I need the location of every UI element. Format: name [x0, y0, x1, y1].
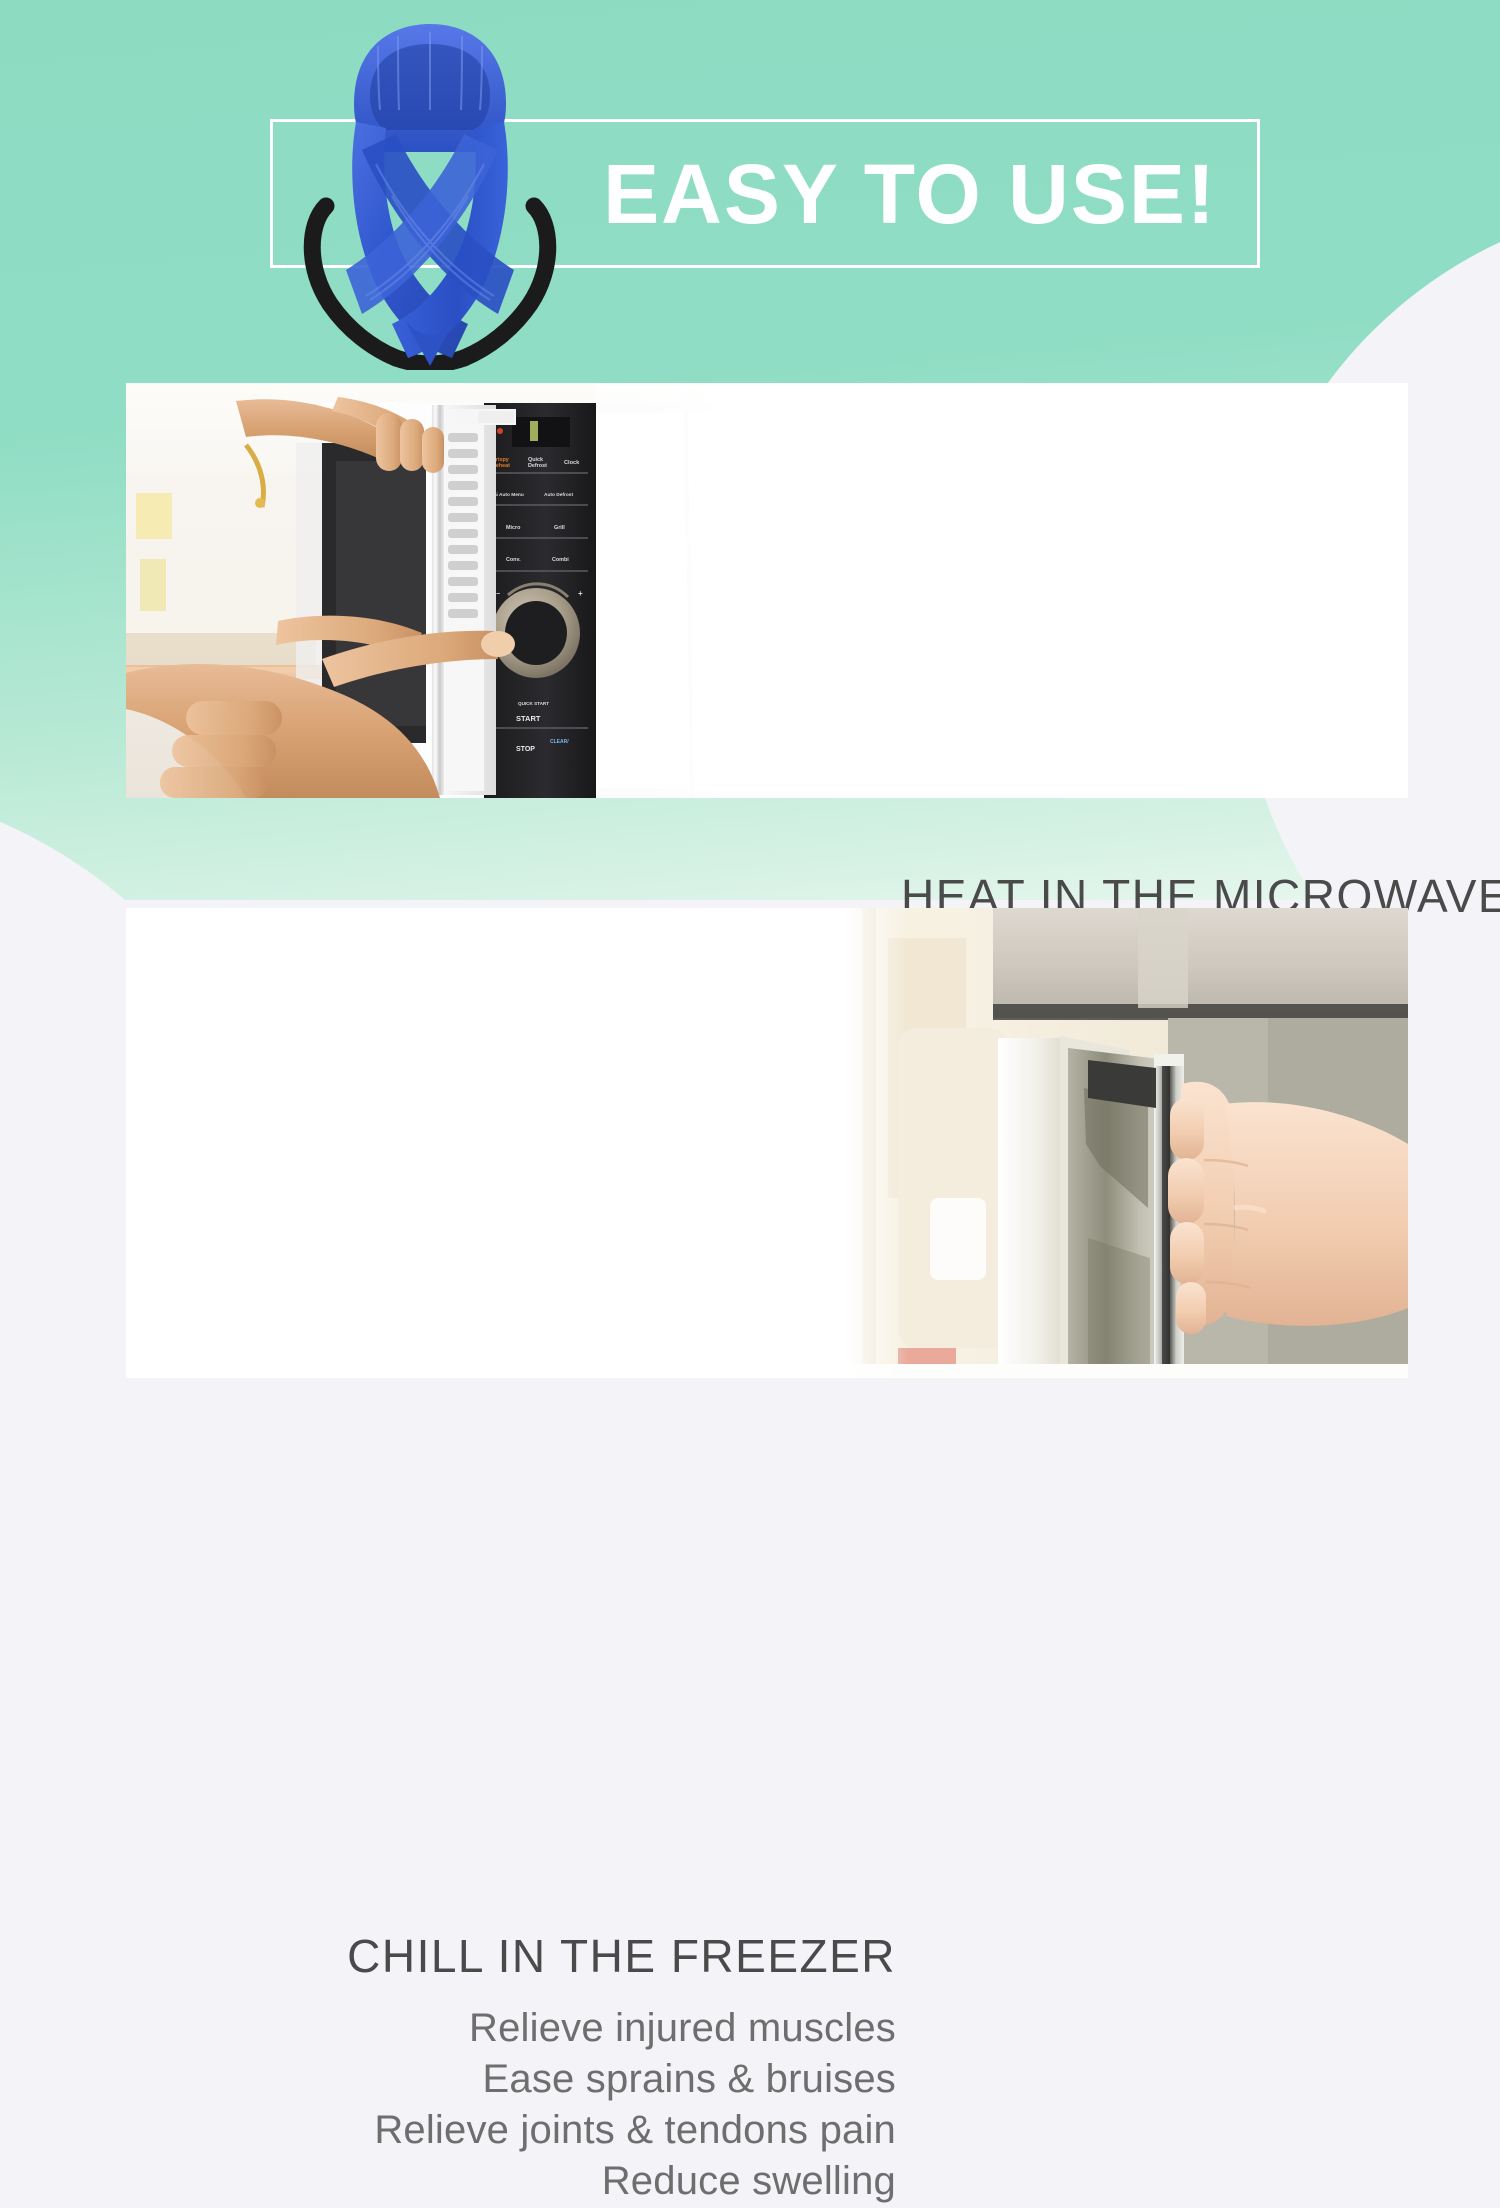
photo-microwave: Crispy Reheat Quick Defrost Clock Thai A…: [126, 383, 736, 798]
benefit-item: Relieve injured muscles: [286, 2003, 896, 2054]
svg-text:Micro: Micro: [506, 525, 521, 531]
svg-text:+: +: [578, 589, 583, 598]
svg-text:Clock: Clock: [564, 460, 580, 466]
svg-text:Combi: Combi: [552, 557, 569, 563]
svg-text:−: −: [496, 591, 500, 598]
benefit-item: Relieve joints & tendons pain: [286, 2105, 896, 2156]
hero-title: EASY TO USE!: [560, 140, 1260, 248]
benefit-item: Ease sprains & bruises: [286, 2054, 896, 2105]
benefit-list-chill: Relieve injured muscles Ease sprains & b…: [286, 2003, 896, 2208]
heading-chill: CHILL IN THE FREEZER: [286, 1930, 896, 1983]
svg-text:Auto Defrost: Auto Defrost: [544, 492, 573, 498]
photo-freezer: [838, 908, 1408, 1378]
svg-text:QUICK START: QUICK START: [518, 701, 549, 706]
svg-text:Conv.: Conv.: [506, 557, 521, 563]
card-heat-microwave: Crispy Reheat Quick Defrost Clock Thai A…: [126, 383, 1408, 798]
svg-text:Grill: Grill: [554, 525, 565, 531]
infographic-stage: EASY TO USE!: [0, 0, 1500, 1500]
svg-text:Defrost: Defrost: [528, 463, 547, 469]
svg-text:START: START: [516, 714, 541, 723]
product-image-neck-wrap: [300, 18, 560, 370]
card-chill-freezer: CHILL IN THE FREEZER Relieve injured mus…: [126, 908, 1408, 1378]
chill-text-block: CHILL IN THE FREEZER Relieve injured mus…: [286, 1930, 896, 2208]
svg-text:STOP: STOP: [516, 746, 535, 753]
svg-text:CLEAR/: CLEAR/: [550, 739, 569, 745]
benefit-item: Reduce swelling: [286, 2156, 896, 2207]
